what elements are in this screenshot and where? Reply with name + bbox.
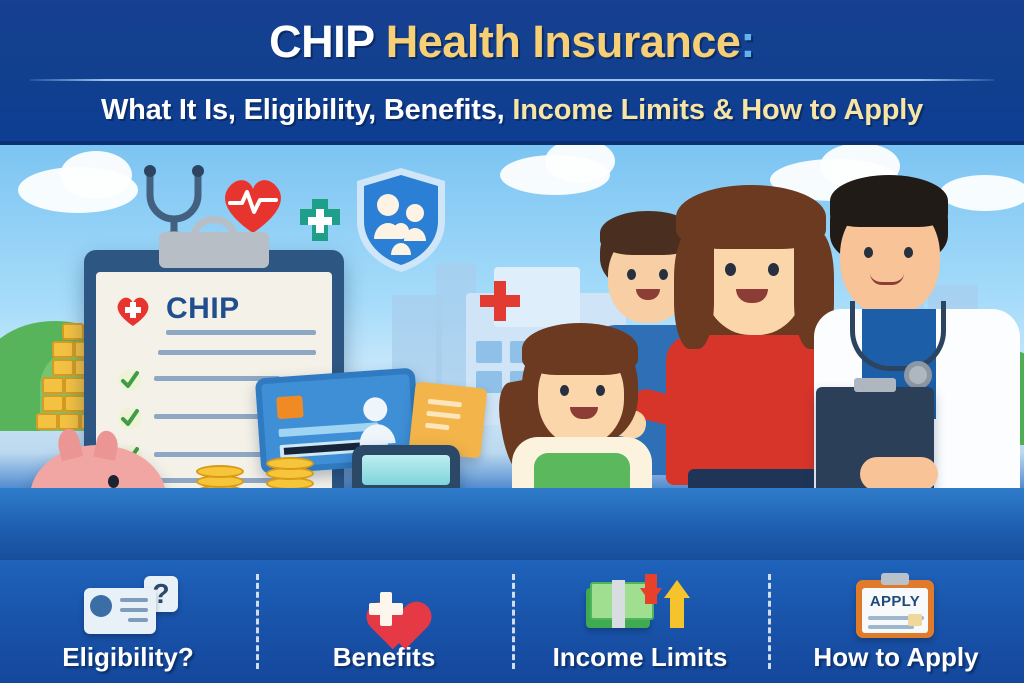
category-item-benefits[interactable]: Benefits bbox=[256, 560, 512, 683]
title-part-health-insurance: Health Insurance bbox=[374, 16, 741, 67]
arrow-down-icon bbox=[640, 588, 662, 604]
category-label: Income Limits bbox=[553, 642, 728, 673]
apply-text: APPLY bbox=[862, 593, 928, 610]
money-arrows-icon bbox=[580, 574, 700, 640]
category-item-eligibility[interactable]: ? Eligibility? bbox=[0, 560, 256, 683]
arrow-up-icon bbox=[664, 580, 690, 598]
page-subtitle: What It Is, Eligibility, Benefits, Incom… bbox=[0, 94, 1024, 127]
title-part-chip: CHIP bbox=[269, 16, 374, 67]
heart-cross-badge-icon bbox=[114, 294, 152, 328]
doctor-stethoscope-icon bbox=[850, 301, 946, 371]
card-chip-icon bbox=[276, 395, 303, 419]
scene-floor bbox=[0, 488, 1024, 560]
category-label: Benefits bbox=[333, 642, 436, 673]
title-part-colon: : bbox=[740, 16, 755, 67]
card-avatar-icon bbox=[354, 393, 398, 448]
heart-cross-icon bbox=[324, 574, 444, 640]
family-shield-icon bbox=[352, 165, 450, 275]
infographic-poster: CHIP Health Insurance: What It Is, Eligi… bbox=[0, 0, 1024, 683]
subtitle-part-gold: Income Limits & How to Apply bbox=[505, 94, 923, 126]
clipboard-clip bbox=[159, 232, 269, 268]
checkmark-icon bbox=[118, 406, 142, 430]
id-card-question-icon: ? bbox=[68, 574, 188, 640]
clipboard-heading: CHIP bbox=[166, 292, 240, 326]
main-illustration: CHIP bbox=[0, 145, 1024, 560]
subtitle-part-white: What It Is, Eligibility, Benefits, bbox=[101, 94, 505, 126]
poster-header: CHIP Health Insurance: What It Is, Eligi… bbox=[0, 0, 1024, 145]
category-item-income-limits[interactable]: Income Limits bbox=[512, 560, 768, 683]
cloud-icon bbox=[60, 151, 132, 199]
page-title: CHIP Health Insurance: bbox=[0, 16, 1024, 68]
header-divider bbox=[30, 79, 994, 81]
apply-clipboard-icon: APPLY bbox=[836, 574, 956, 640]
id-card-icon bbox=[84, 588, 156, 634]
checkmark-icon bbox=[118, 368, 142, 392]
category-item-how-to-apply[interactable]: APPLY How to Apply bbox=[768, 560, 1024, 683]
category-label: Eligibility? bbox=[62, 642, 193, 673]
category-label: How to Apply bbox=[813, 642, 978, 673]
calculator-screen bbox=[362, 455, 450, 485]
medical-cross-icon bbox=[296, 197, 344, 243]
category-bar: ? Eligibility? Benefits Income Limits bbox=[0, 560, 1024, 683]
person-doctor bbox=[808, 175, 1024, 515]
